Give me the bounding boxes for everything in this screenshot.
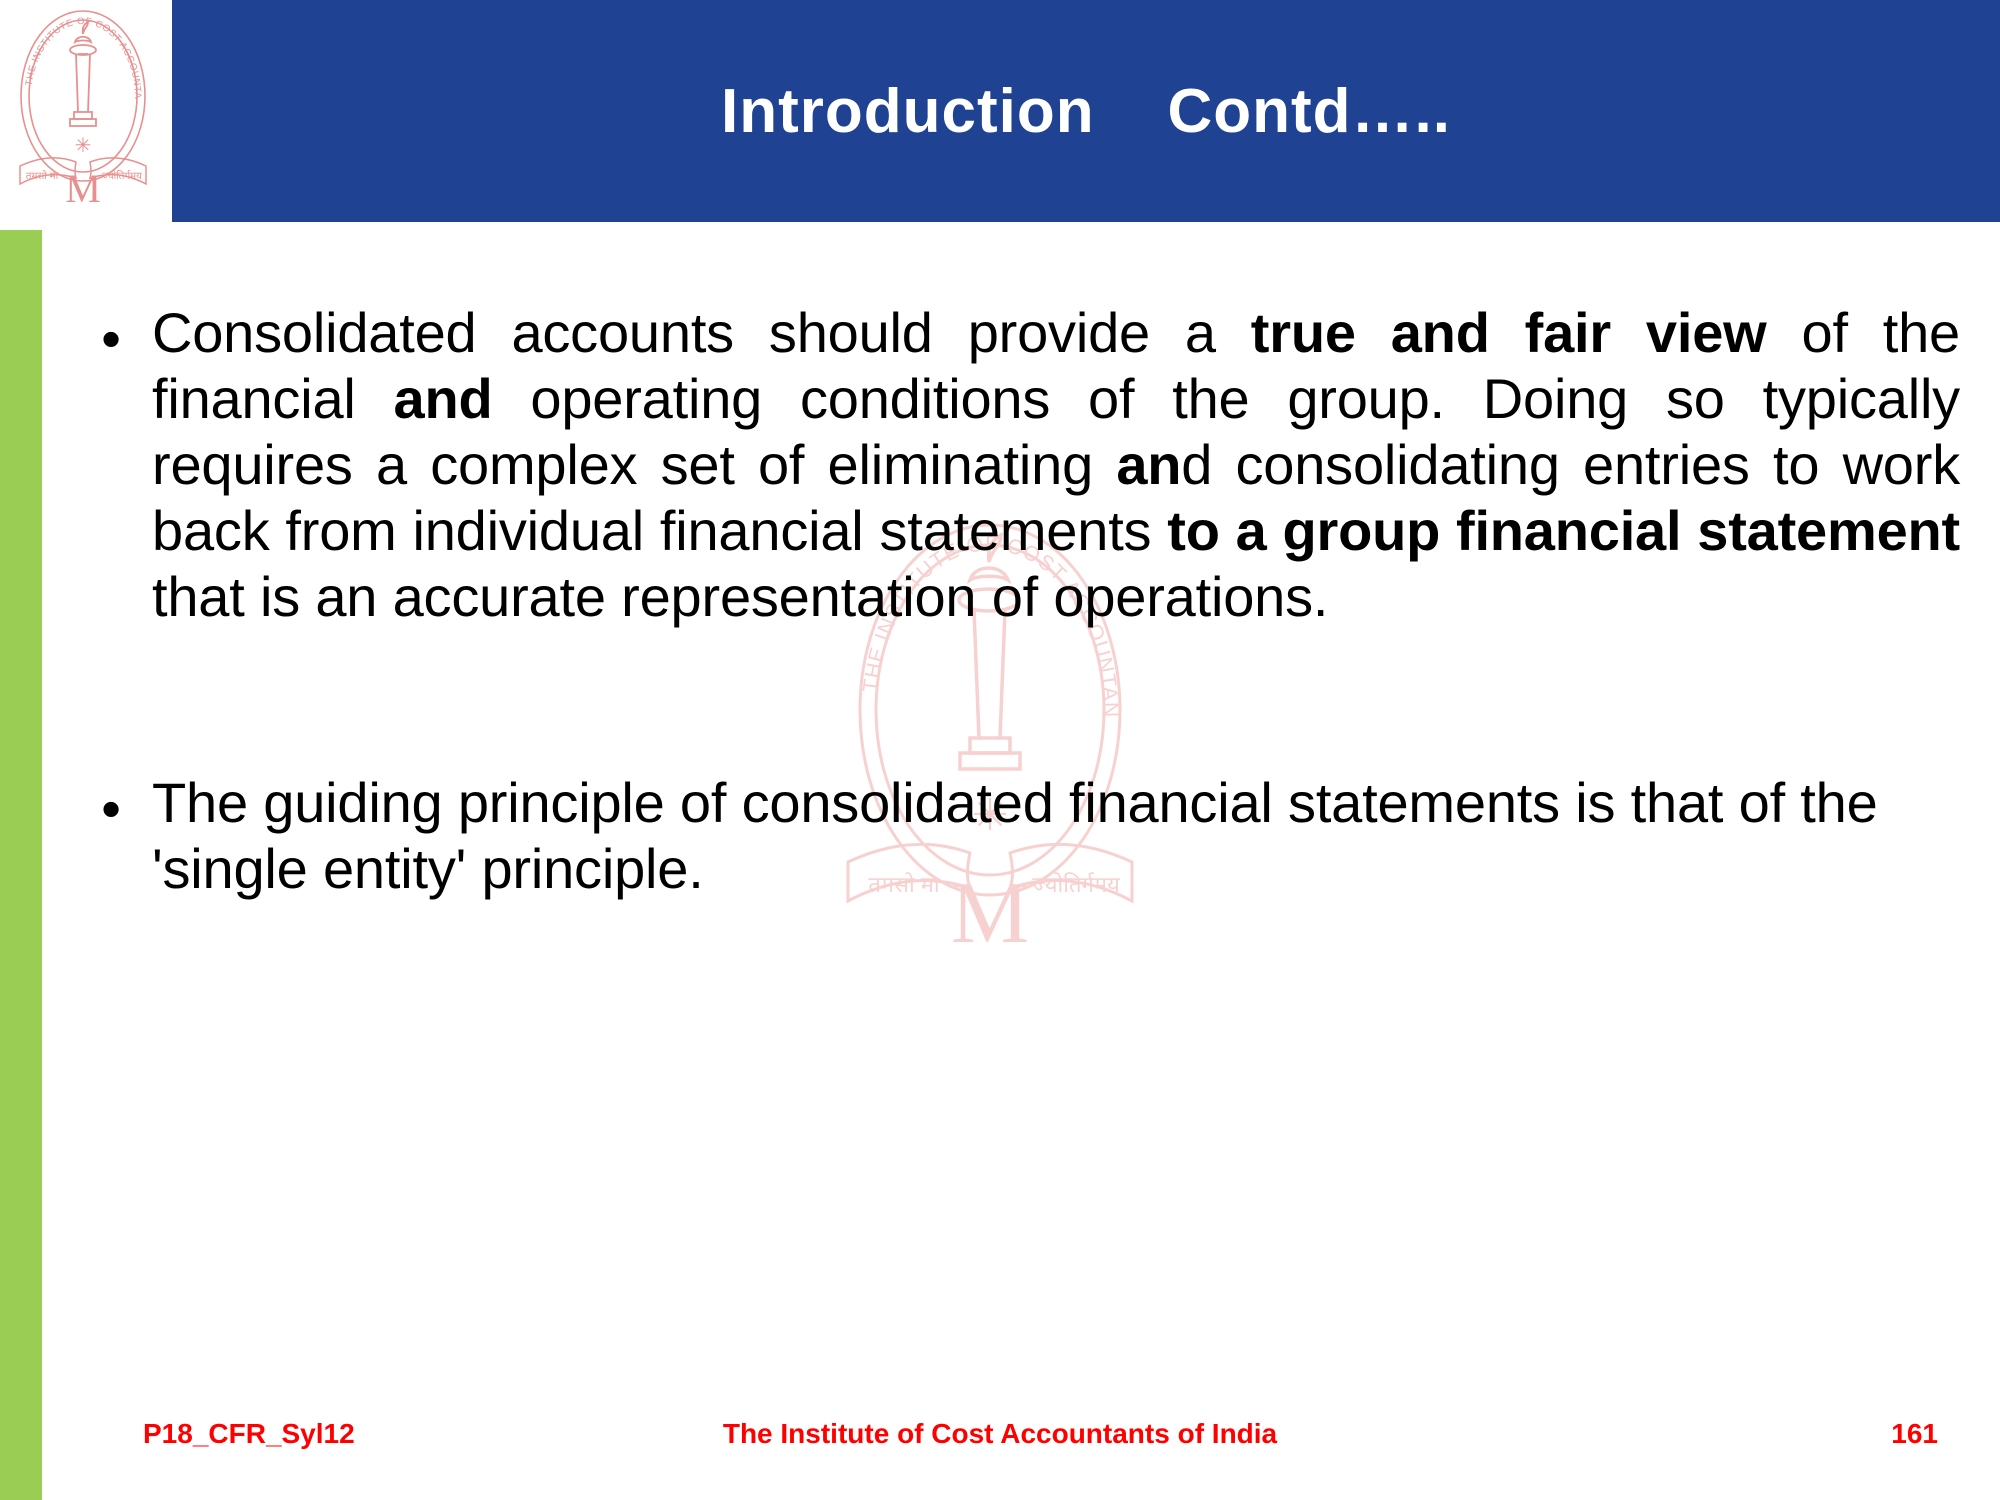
svg-text:ज्योतिर्गमय: ज्योतिर्गमय — [102, 170, 142, 182]
svg-text:✳: ✳ — [75, 135, 92, 157]
bullet-marker: • — [70, 770, 152, 842]
institute-logo-icon: THE INSTITUTE OF COST ACCOUNTANTS OF IND… — [8, 6, 158, 221]
footer-page-number: 161 — [1891, 1418, 1938, 1450]
footer: P18_CFR_Syl12 The Institute of Cost Acco… — [0, 1418, 2000, 1462]
svg-text:तमसो मा: तमसो मा — [26, 170, 59, 182]
footer-institute-name: The Institute of Cost Accountants of Ind… — [0, 1418, 2000, 1450]
bullet-marker: • — [70, 300, 152, 372]
bullet-text-1: Consolidated accounts should provide a t… — [152, 300, 1960, 630]
slide-body: • Consolidated accounts should provide a… — [70, 300, 1960, 903]
svg-text:THE INSTITUTE OF COST ACCOUNTA: THE INSTITUTE OF COST ACCOUNTANTS OF IND… — [8, 6, 143, 99]
slide: THE INSTITUTE OF COST ACCOUNTANTS OF IND… — [0, 0, 2000, 1500]
bullet-item: • Consolidated accounts should provide a… — [70, 300, 1960, 630]
svg-text:M: M — [65, 166, 101, 211]
bullet-item: • The guiding principle of consolidated … — [70, 770, 1960, 902]
slide-title: Introduction Contd….. — [172, 0, 2000, 222]
spacer — [70, 630, 1960, 770]
bullet-text-2: The guiding principle of consolidated fi… — [152, 770, 1960, 902]
